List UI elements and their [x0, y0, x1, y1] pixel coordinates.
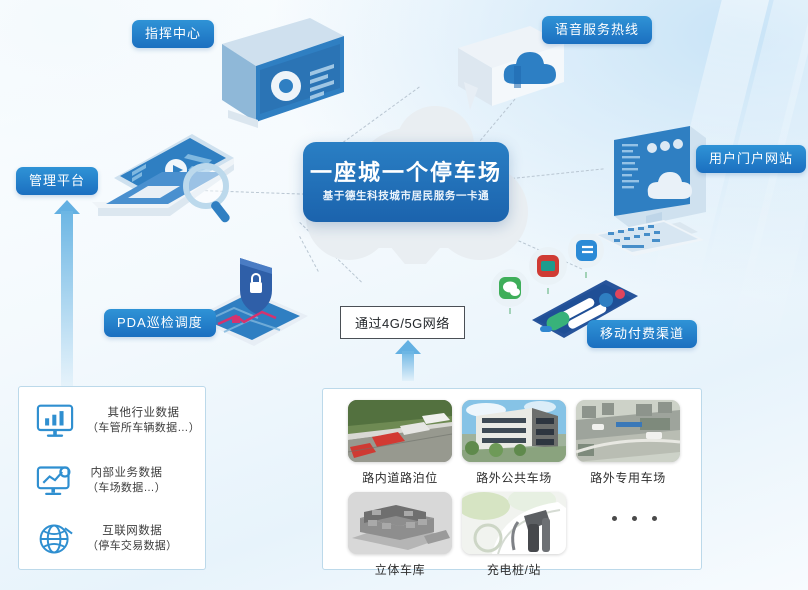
data-source-sub: （车场数据…）: [87, 483, 166, 494]
data-source-title: 互联网数据: [102, 526, 162, 538]
scene-label: 立体车库: [348, 561, 452, 578]
scene-card[interactable]: 立体车库: [348, 492, 452, 578]
pill-management-platform[interactable]: 管理平台: [16, 167, 98, 195]
diagram-canvas: 一座城一个停车场 基于德生科技城市居民服务一卡通: [0, 0, 808, 590]
pill-command-center[interactable]: 指挥中心: [132, 20, 214, 48]
monitor-line-chart-icon: [35, 463, 75, 499]
pill-mobile-payment[interactable]: 移动付费渠道: [587, 320, 697, 348]
page-title: 一座城一个停车场: [310, 162, 502, 184]
pda-illustration: [188, 252, 318, 356]
scene-card[interactable]: 路外专用车场: [576, 400, 680, 486]
command-center-illustration: [214, 14, 350, 134]
page-subtitle: 基于德生科技城市居民服务一卡通: [323, 191, 490, 202]
arrow-up-management: [54, 200, 80, 386]
data-source-item[interactable]: 互联网数据 （停车交易数据）: [35, 521, 177, 557]
center-headline-card: 一座城一个停车场 基于德生科技城市居民服务一卡通: [303, 142, 509, 222]
scene-label: 充电桩/站: [462, 561, 566, 578]
management-platform-illustration: [84, 126, 249, 238]
scene-label: 路内道路泊位: [348, 469, 452, 486]
scene-card[interactable]: 路内道路泊位: [348, 400, 452, 486]
globe-network-icon: [35, 521, 75, 557]
data-sources-panel: 其他行业数据 （车管所车辆数据…） 内部业务数据 （车场数据…）: [18, 386, 206, 570]
pill-user-portal[interactable]: 用户门户网站: [696, 145, 806, 173]
stacked-garage-photo: [348, 492, 452, 554]
scenes-more-ellipsis: [612, 516, 657, 521]
data-source-title: 内部业务数据: [91, 468, 163, 480]
ev-charger-photo: [462, 492, 566, 554]
dedicated-lot-photo: [576, 400, 680, 462]
data-source-sub: （停车交易数据）: [87, 541, 177, 552]
scene-label: 路外公共车场: [462, 469, 566, 486]
street-parking-photo: [348, 400, 452, 462]
scene-card[interactable]: 路外公共车场: [462, 400, 566, 486]
monitor-bar-chart-icon: [35, 403, 75, 439]
scene-label: 路外专用车场: [576, 469, 680, 486]
data-source-item[interactable]: 其他行业数据 （车管所车辆数据…）: [35, 403, 200, 439]
pill-pda-inspection[interactable]: PDA巡检调度: [104, 309, 216, 337]
public-garage-photo: [462, 400, 566, 462]
data-source-title: 其他行业数据: [108, 408, 180, 420]
network-label-box: 通过4G/5G网络: [340, 306, 465, 339]
data-source-sub: （车管所车辆数据…）: [87, 423, 200, 434]
arrow-up-network: [395, 340, 421, 380]
pill-voice-hotline[interactable]: 语音服务热线: [542, 16, 652, 44]
scene-card[interactable]: 充电桩/站: [462, 492, 566, 578]
data-source-item[interactable]: 内部业务数据 （车场数据…）: [35, 463, 166, 499]
